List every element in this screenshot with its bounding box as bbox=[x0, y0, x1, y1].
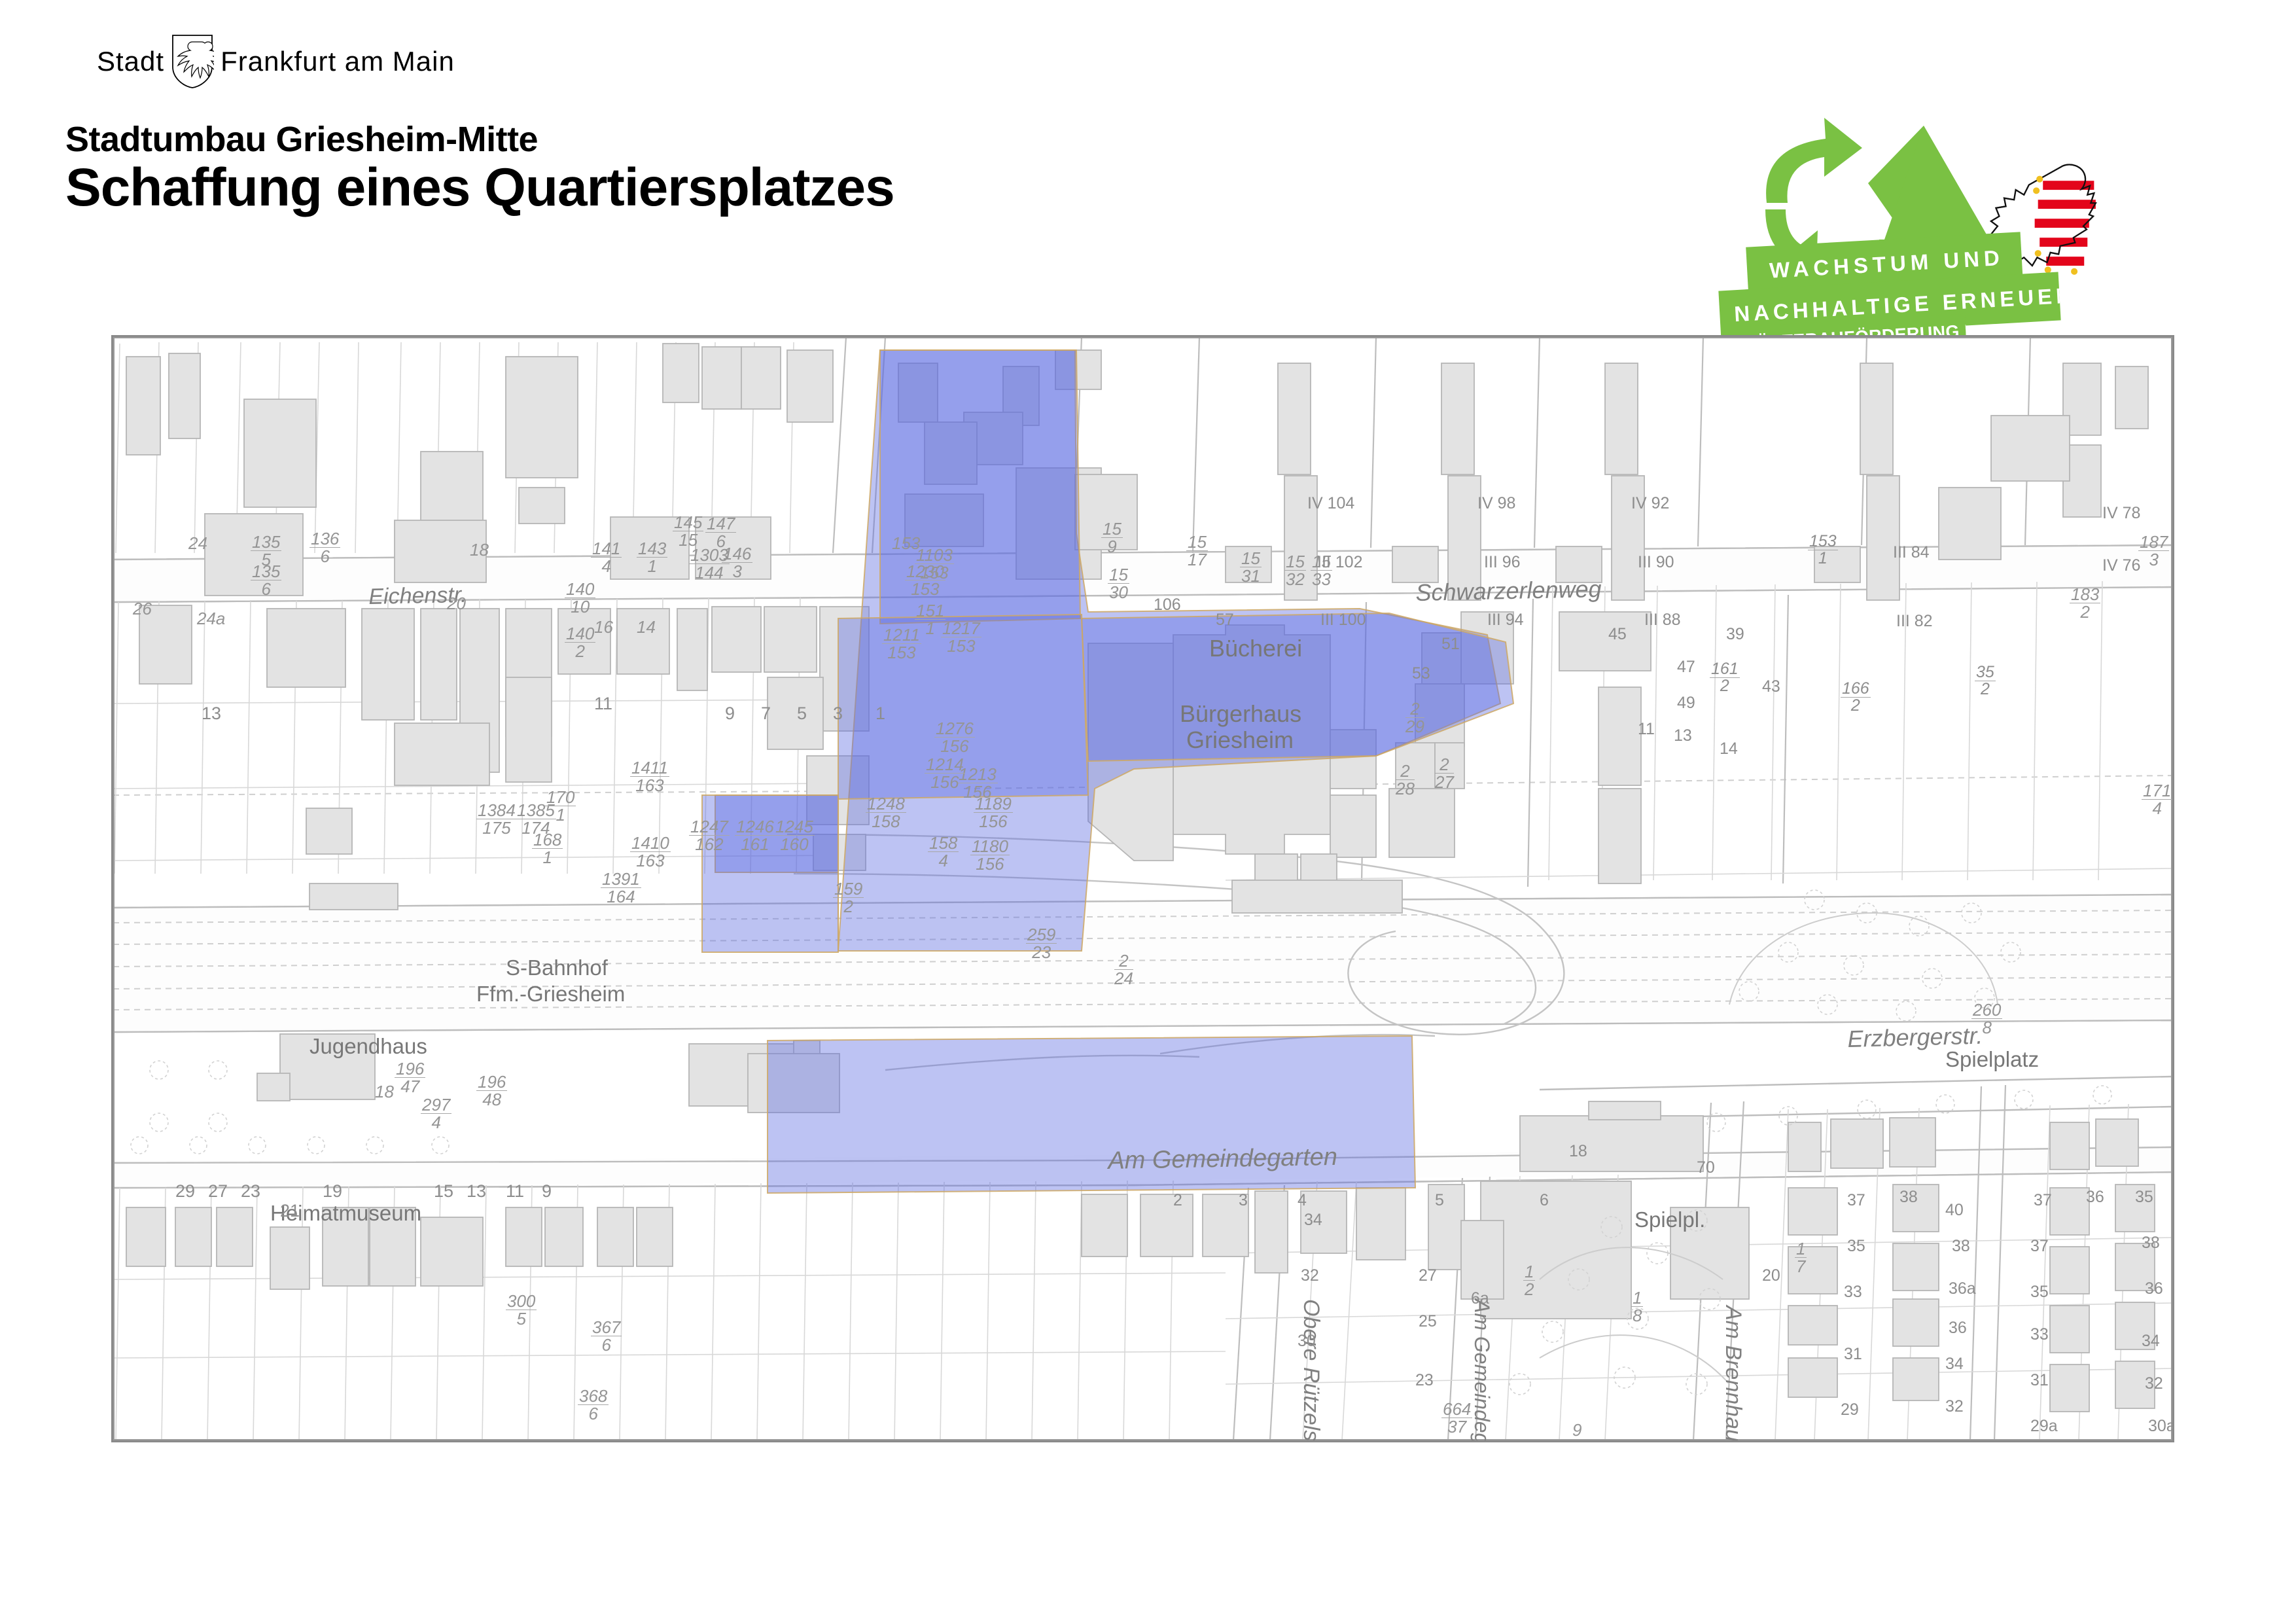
parcel-number: III 84 bbox=[1893, 543, 1930, 562]
parcel-number: 11 bbox=[594, 694, 612, 714]
parcel-number: 37 bbox=[2034, 1191, 2052, 1210]
parcel-number: 1463 bbox=[722, 545, 752, 580]
street-label: Am Gemeindegarten bbox=[1470, 1299, 1494, 1442]
parcel-number: 38 bbox=[1952, 1237, 1970, 1256]
parcel-number: 1832 bbox=[2070, 586, 2100, 620]
parcel-number: 36a bbox=[1949, 1279, 1976, 1298]
parcel-number: 18 bbox=[1569, 1142, 1587, 1161]
parcel-number: 19 bbox=[323, 1181, 342, 1202]
place-label: Spielplatz bbox=[1945, 1047, 2039, 1072]
parcel-number: 38 bbox=[1899, 1188, 1918, 1207]
frankfurt-eagle-crest-icon bbox=[171, 34, 214, 89]
parcel-number: 1662 bbox=[1841, 681, 1871, 714]
parcel-number: 34 bbox=[2142, 1332, 2160, 1351]
parcel-number: 1391164 bbox=[601, 870, 641, 905]
parcel-number: 14515 bbox=[673, 514, 703, 548]
parcel-number: III 82 bbox=[1896, 612, 1933, 631]
parcel-number: 1531 bbox=[1808, 533, 1838, 567]
parcel-number: 1517 bbox=[1186, 533, 1208, 568]
parcel-number: III 94 bbox=[1487, 611, 1524, 630]
parcel-number: 13 bbox=[1674, 726, 1692, 745]
parcel-number: 18 bbox=[1631, 1289, 1643, 1324]
parcel-number: 57 bbox=[1216, 611, 1234, 630]
parcel-number: 33 bbox=[1844, 1283, 1862, 1302]
parcel-number: III 90 bbox=[1638, 553, 1674, 572]
parcel-number: 18 bbox=[470, 540, 489, 560]
parcel-number: 34 bbox=[1945, 1355, 1964, 1374]
city-logo-word-frankfurt: Frankfurt am Main bbox=[221, 46, 455, 77]
parcel-number: 9 bbox=[725, 704, 735, 724]
parcel-number: 19647 bbox=[395, 1060, 425, 1095]
parcel-number: 35 bbox=[2030, 1283, 2049, 1302]
wachstum-und-nachhaltige-erneuerung-logo: WACHSTUM UND NACHHALTIGE ERNEUERUNG STÄD… bbox=[1727, 111, 2146, 373]
parcel-number: 36 bbox=[1949, 1319, 1967, 1338]
parcel-number: 1701 bbox=[545, 789, 576, 823]
parcel-number: IV 104 bbox=[1307, 494, 1354, 513]
parcel-number: 47 bbox=[1677, 658, 1695, 677]
parcel-number: 14 bbox=[637, 617, 656, 637]
parcel-number: 45 bbox=[1608, 625, 1627, 644]
parcel-number: 43 bbox=[1762, 677, 1780, 696]
parcel-number: 35 bbox=[2135, 1188, 2153, 1207]
parcel-number: 1217153 bbox=[941, 620, 981, 654]
parcel-number: 24a bbox=[197, 609, 225, 629]
parcel-number: 23 bbox=[1415, 1371, 1434, 1390]
parcel-number: 17 bbox=[1795, 1240, 1807, 1275]
cadastral-map[interactable]: Eichenstr.SchwarzerlenwegAm Gemeindegart… bbox=[111, 335, 2174, 1442]
parcel-number: 4 bbox=[1298, 1191, 1307, 1210]
parcel-number: 25923 bbox=[1026, 926, 1057, 961]
parcel-number: 51 bbox=[1441, 635, 1460, 654]
parcel-number: 33 bbox=[2030, 1325, 2049, 1344]
parcel-number: 352 bbox=[1975, 664, 1996, 698]
parcel-number: 9 bbox=[542, 1181, 552, 1202]
parcel-number: 18 bbox=[375, 1082, 394, 1102]
parcel-number: 23 bbox=[241, 1181, 260, 1202]
place-label: Ffm.-Griesheim bbox=[476, 982, 625, 1007]
parcel-number: 32 bbox=[1945, 1397, 1964, 1416]
footer-logo-bar: Bundesministerium für Wohnen, Stadtentwi… bbox=[0, 1476, 2296, 1623]
parcel-number: 1612 bbox=[1710, 661, 1740, 694]
parcel-number: 29a bbox=[2030, 1417, 2058, 1436]
street-label: Obere Rützelstr. bbox=[1298, 1299, 1324, 1442]
parcel-number: 36 bbox=[2145, 1279, 2163, 1298]
parcel-number: 15 bbox=[434, 1181, 453, 1202]
parcel-number: 1411163 bbox=[630, 759, 669, 794]
parcel-number: 1532 bbox=[1284, 553, 1306, 588]
parcel-number: 53 bbox=[1412, 664, 1430, 683]
parcel-number: 1530 bbox=[1108, 566, 1129, 601]
parcel-number: 30a bbox=[2148, 1417, 2174, 1436]
parcel-number: 32 bbox=[2145, 1374, 2163, 1393]
page-title: Schaffung eines Quartiersplatzes bbox=[65, 157, 894, 219]
place-label: Spielpl. bbox=[1634, 1207, 1705, 1232]
parcel-number: 1873 bbox=[2138, 533, 2169, 568]
parcel-number: 3 bbox=[833, 704, 843, 724]
parcel-number: 26 bbox=[133, 599, 152, 619]
place-label: Griesheim bbox=[1186, 726, 1294, 754]
parcel-number: 1414 bbox=[591, 540, 622, 575]
place-label: Bücherei bbox=[1209, 635, 1302, 662]
place-label: S-Bahnhof bbox=[506, 955, 608, 980]
parcel-number: 6a bbox=[1471, 1289, 1489, 1308]
parcel-number: 20 bbox=[447, 594, 466, 614]
parcel-number: 30 bbox=[1298, 1332, 1316, 1351]
parcel-number: 40 bbox=[1945, 1201, 1964, 1220]
parcel-number: 34 bbox=[1304, 1211, 1322, 1230]
parcel-number: 1214156 bbox=[925, 756, 965, 791]
parcel-number: 25 bbox=[1419, 1312, 1437, 1331]
parcel-number: 29 bbox=[1841, 1400, 1859, 1419]
map-canvas: Eichenstr.SchwarzerlenwegAm Gemeindegart… bbox=[113, 337, 2172, 1440]
parcel-number: 2974 bbox=[421, 1096, 451, 1131]
parcel-number: 12 bbox=[1523, 1263, 1535, 1298]
parcel-number: 159 bbox=[1101, 520, 1123, 555]
parcel-number: III 102 bbox=[1317, 553, 1363, 572]
parcel-number: 3 bbox=[1239, 1191, 1248, 1210]
parcel-number: 3005 bbox=[506, 1293, 537, 1327]
parcel-number: 36 bbox=[2086, 1188, 2104, 1207]
parcel-number: 31 bbox=[2030, 1371, 2049, 1390]
parcel-number: 224 bbox=[1114, 952, 1133, 987]
parcel-number: 1211153 bbox=[882, 626, 921, 661]
parcel-number: IV 76 bbox=[2102, 556, 2140, 575]
parcel-number: III 88 bbox=[1644, 611, 1681, 630]
parcel-number: 13 bbox=[467, 1181, 486, 1202]
parcel-number: 1246161 bbox=[735, 818, 775, 853]
parcel-number: 35 bbox=[1847, 1237, 1865, 1256]
parcel-number: 29 bbox=[175, 1181, 195, 1202]
parcel-number: 1592 bbox=[833, 880, 864, 915]
parcel-number: 1584 bbox=[928, 834, 959, 869]
parcel-number: 9 bbox=[1572, 1420, 1581, 1440]
street-label: Am Gemeindegarten bbox=[1108, 1143, 1337, 1175]
parcel-number: 5 bbox=[1435, 1191, 1444, 1210]
parcel-number: 1103153 bbox=[915, 546, 954, 581]
parcel-number: 20 bbox=[1762, 1266, 1780, 1285]
parcel-number: IV 92 bbox=[1631, 494, 1669, 513]
parcel-number: IV 98 bbox=[1477, 494, 1515, 513]
parcel-number: 1402 bbox=[565, 625, 595, 660]
parcel-number: 1714 bbox=[2142, 782, 2172, 817]
parcel-number: 37 bbox=[1847, 1191, 1865, 1210]
parcel-number: 1276156 bbox=[934, 720, 975, 755]
parcel-number: 1189156 bbox=[974, 795, 1013, 830]
parcel-number: 16 bbox=[594, 617, 613, 637]
parcel-number: 1247162 bbox=[689, 818, 730, 853]
parcel-number: 24 bbox=[188, 533, 207, 554]
parcel-number: 1531 bbox=[1240, 550, 1262, 584]
parcel-number: 2608 bbox=[1971, 1001, 2002, 1036]
parcel-number: 228 bbox=[1396, 762, 1415, 797]
parcel-number: 1366 bbox=[309, 530, 340, 565]
parcel-number: 13 bbox=[202, 704, 221, 724]
parcel-number: 21 bbox=[280, 1201, 300, 1221]
parcel-number: 1681 bbox=[532, 831, 563, 866]
parcel-number: 3686 bbox=[578, 1387, 609, 1422]
project-area-highlight bbox=[113, 337, 2172, 1440]
parcel-number: 31 bbox=[1844, 1345, 1862, 1364]
parcel-number: 1248158 bbox=[866, 795, 906, 830]
parcel-number: III 96 bbox=[1484, 553, 1521, 572]
parcel-number: 3676 bbox=[591, 1319, 622, 1353]
parcel-number: 7 bbox=[761, 704, 771, 724]
parcel-number: 32 bbox=[1301, 1266, 1319, 1285]
parcel-number: 6 bbox=[1540, 1191, 1549, 1210]
parcel-number: 5 bbox=[797, 704, 807, 724]
place-label: Jugendhaus bbox=[309, 1034, 427, 1059]
parcel-number: 27 bbox=[1419, 1266, 1437, 1285]
parcel-number: 227 bbox=[1435, 756, 1454, 791]
parcel-number: 1384175 bbox=[476, 802, 517, 836]
parcel-number: 70 bbox=[1697, 1158, 1715, 1177]
city-of-frankfurt-logo: Stadt Frankfurt am Main bbox=[97, 34, 455, 89]
parcel-number: 49 bbox=[1677, 694, 1695, 713]
street-label: Schwarzerlenweg bbox=[1415, 575, 1602, 607]
place-label: Bürgerhaus bbox=[1180, 700, 1301, 728]
parcel-number: 106 bbox=[1154, 596, 1181, 615]
city-logo-word-stadt: Stadt bbox=[97, 46, 164, 77]
parcel-number: 14010 bbox=[565, 580, 595, 615]
parcel-number: 27 bbox=[208, 1181, 228, 1202]
parcel-number: 229 bbox=[1405, 700, 1424, 735]
parcel-number: 2 bbox=[1173, 1191, 1182, 1210]
parcel-number: 37 bbox=[2030, 1237, 2049, 1256]
parcel-number: 1355 bbox=[251, 533, 281, 568]
page-subtitle: Stadtumbau Griesheim-Mitte bbox=[65, 119, 538, 160]
parcel-number: 38 bbox=[2142, 1234, 2160, 1253]
street-label: Am Brennhaus bbox=[1720, 1306, 1746, 1442]
parcel-number: 14 bbox=[1720, 740, 1738, 758]
parcel-number: 39 bbox=[1726, 625, 1744, 644]
parcel-number: 1410163 bbox=[630, 834, 671, 869]
parcel-number: 66437 bbox=[1441, 1400, 1472, 1435]
parcel-number: 19648 bbox=[476, 1073, 507, 1108]
parcel-number: 1 bbox=[875, 704, 885, 724]
parcel-number: 1431 bbox=[637, 540, 667, 575]
parcel-number: 1180156 bbox=[970, 838, 1010, 872]
parcel-number: 11 bbox=[506, 1181, 524, 1202]
poster-root: Stadt Frankfurt am Main Stadtumbau Gries… bbox=[0, 0, 2296, 1623]
parcel-number: 11 bbox=[1638, 720, 1655, 739]
parcel-number: III 100 bbox=[1320, 611, 1366, 630]
parcel-number: 1245160 bbox=[774, 818, 815, 853]
parcel-number: IV 78 bbox=[2102, 504, 2140, 523]
